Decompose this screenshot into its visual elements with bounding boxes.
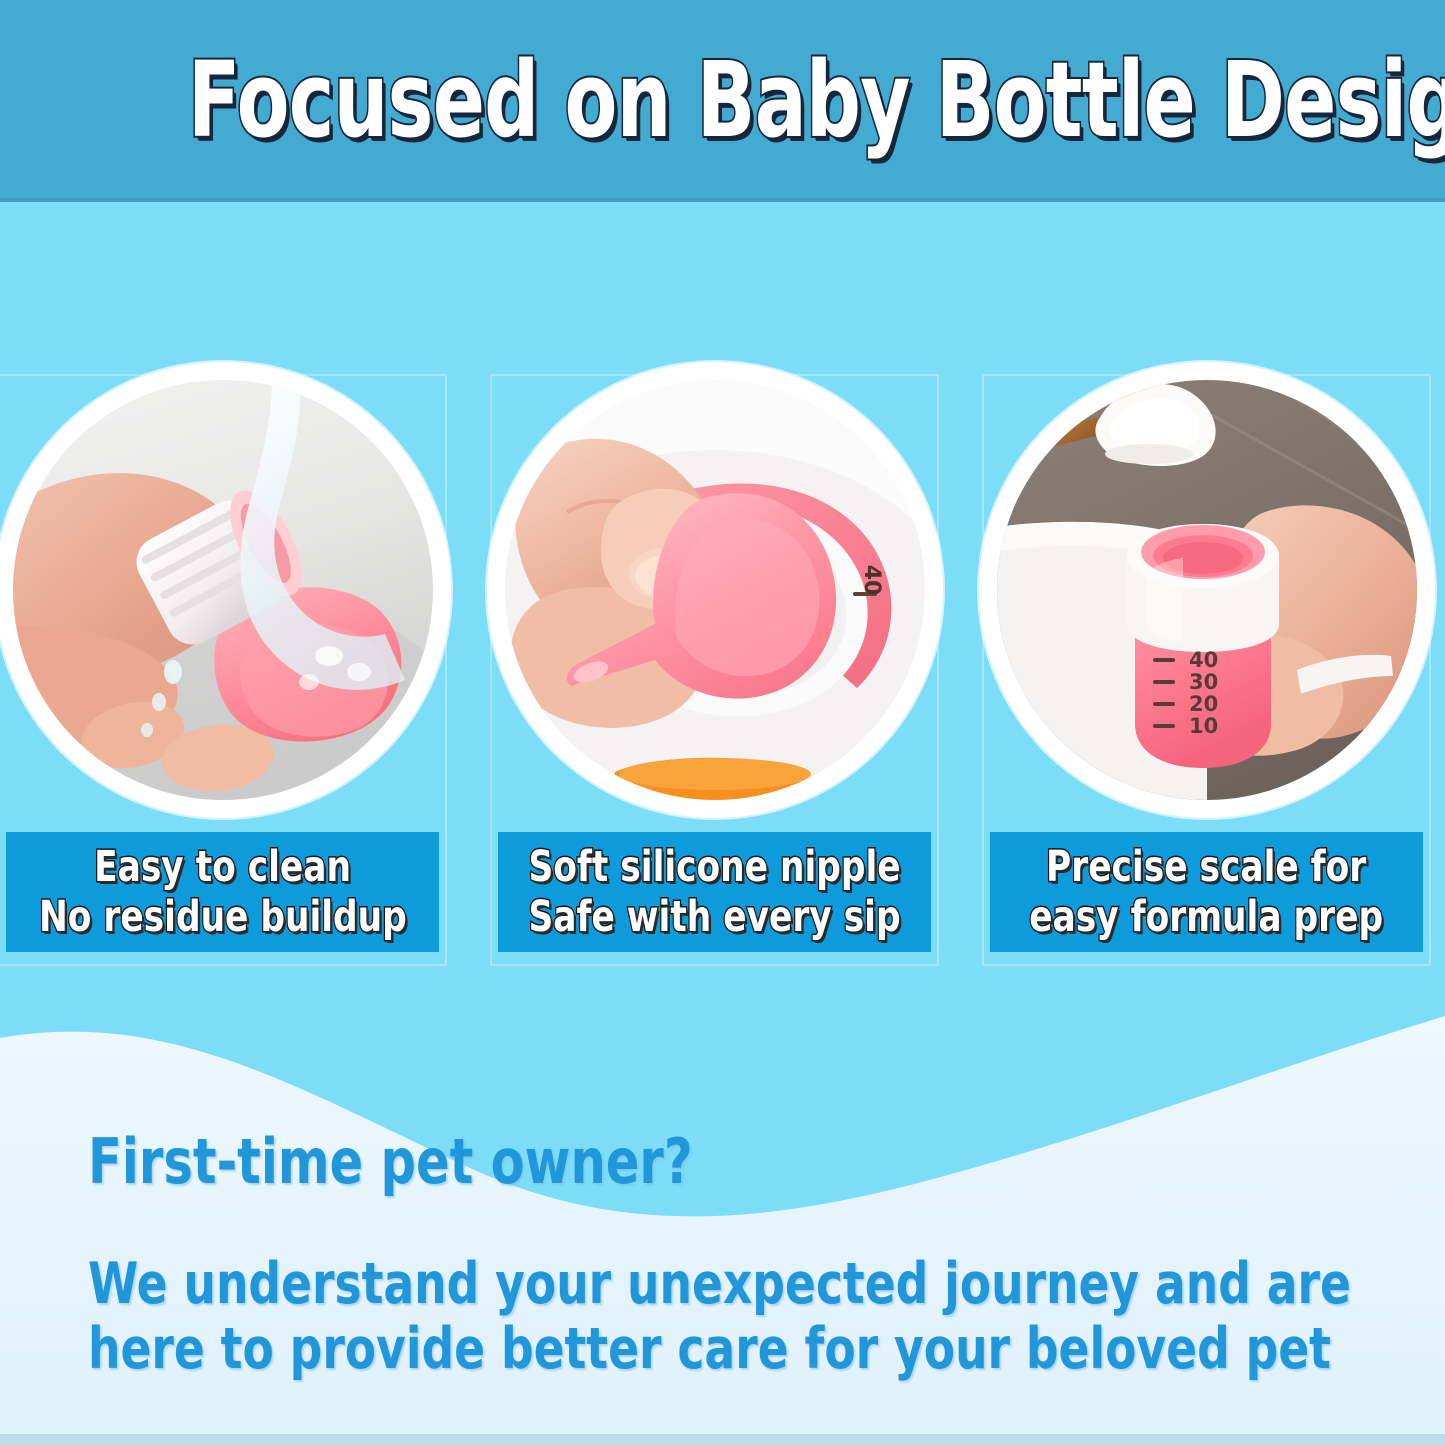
bottom-body-line-1: We understand your unexpected journey an…: [88, 1251, 1351, 1317]
caption-line-2: Safe with every sip: [528, 892, 900, 942]
feature-card-soft-nipple: 40 Soft silicone nipple Safe with every …: [490, 374, 939, 966]
product-infographic-poster: Focused on Baby Bottle Design: [0, 0, 1445, 1445]
bottom-headline: First-time pet owner?: [88, 1128, 693, 1196]
measuring-formula-powder-into-bottle-photo: 40 30 20 10: [997, 380, 1417, 800]
card-caption-1: Easy to clean No residue buildup: [6, 832, 439, 952]
caption-line-1: Soft silicone nipple: [528, 842, 900, 892]
header-underline: [0, 198, 1445, 202]
caption-line-1: Easy to clean: [94, 842, 351, 892]
feature-card-easy-to-clean: Easy to clean No residue buildup: [0, 374, 447, 966]
photo-frame-2: 40: [487, 362, 943, 818]
photo-frame-3: 40 30 20 10: [979, 362, 1435, 818]
feature-card-precise-scale: 40 30 20 10 Precise scale for easy formu…: [982, 374, 1431, 966]
scale-mark-10: 10: [1189, 714, 1218, 738]
bottom-body-line-2: here to provide better care for your bel…: [88, 1317, 1351, 1382]
scale-mark-30: 30: [1189, 670, 1218, 694]
squeezing-soft-silicone-nipple-photo: 40: [505, 380, 925, 800]
caption-line-2: easy formula prep: [1030, 892, 1384, 942]
scale-mark-20: 20: [1189, 692, 1218, 716]
bottle-marking-40: 40: [859, 565, 884, 596]
page-title: Focused on Baby Bottle Design: [188, 46, 1257, 154]
scale-mark-40: 40: [1189, 648, 1218, 672]
card-caption-3: Precise scale for easy formula prep: [990, 832, 1423, 952]
caption-line-1: Precise scale for: [1046, 842, 1366, 892]
rinsing-silicone-bottle-under-water-photo: [13, 380, 433, 800]
bottom-body-text: We understand your unexpected journey an…: [88, 1252, 1351, 1382]
bottom-edge-strip: [0, 1434, 1445, 1445]
card-caption-2: Soft silicone nipple Safe with every sip: [498, 832, 931, 952]
photo-frame-1: [0, 362, 451, 818]
caption-line-2: No residue buildup: [39, 892, 407, 942]
